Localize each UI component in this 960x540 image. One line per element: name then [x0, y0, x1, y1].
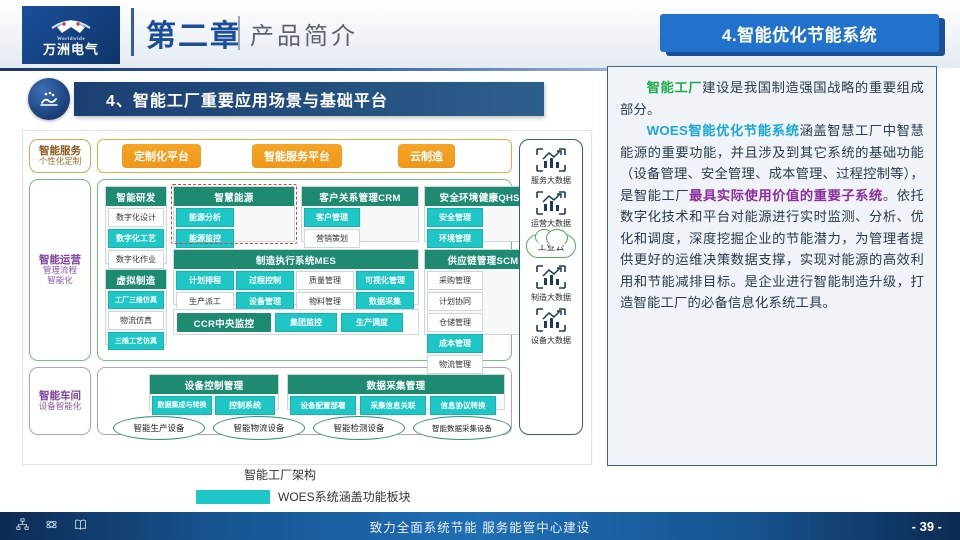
- chip[interactable]: 质量管理: [296, 271, 354, 290]
- module-crm: 客户关系管理CRM 客户管理 营销策划 销售管理 销售预测: [301, 186, 419, 242]
- footer-slogan: 致力全面系统节能 服务能管中心建设: [0, 517, 960, 536]
- bigdata-label: 服务大数据: [531, 175, 571, 186]
- ccr-title: CCR中央监控: [177, 313, 271, 332]
- chip[interactable]: 物流仿真: [108, 311, 164, 330]
- platform-button-service[interactable]: 智能服务平台: [252, 144, 342, 168]
- module-title: 智能研发: [106, 187, 166, 206]
- cloud-icon: 工业云: [526, 234, 576, 258]
- description-panel: 智能工厂建设是我国制造强国战略的重要组成部分。 WOES智能优化节能系统涵盖智慧…: [607, 66, 937, 466]
- topic-badge: 4.智能优化节能系统: [660, 14, 945, 56]
- section-title-bar: 4、智能工厂重要应用场景与基础平台: [74, 82, 544, 116]
- highlight-value: 最具实际使用价值的重要子系统: [689, 188, 883, 203]
- bigdata-column: 服务大数据 运营大数据 工业云 制造大数据: [519, 139, 583, 435]
- rail-sub: 个性化定制: [39, 157, 82, 167]
- chart-icon: [533, 305, 569, 335]
- legend-title: 智能工厂架构: [244, 466, 316, 483]
- company-logo-icon: [48, 14, 94, 36]
- chip[interactable]: 数据集成与转换: [152, 396, 212, 415]
- chart-icon: [533, 145, 569, 175]
- bigdata-service: 服务大数据: [531, 145, 571, 186]
- platform-button-custom[interactable]: 定制化平台: [122, 144, 201, 168]
- chip[interactable]: 数字化工艺: [108, 229, 164, 248]
- module-title: 虚拟制造: [106, 270, 166, 289]
- module-title: 智慧能源: [174, 187, 294, 206]
- chip[interactable]: 设备配置部署: [290, 396, 356, 415]
- chip[interactable]: 能源分析: [176, 208, 234, 227]
- module-data-collection: 数据采集管理 设备配置部署 采集信息关联 信息协议转换: [287, 374, 505, 410]
- p2-part2: 。依托数字化技术和平台对能源进行实时监测、分析、优化和调度，深度挖掘企业的节能潜…: [620, 188, 924, 311]
- chip[interactable]: 集团监控: [275, 313, 337, 332]
- equipment-production[interactable]: 智能生产设备: [113, 416, 205, 440]
- chip[interactable]: 数字化作业: [108, 250, 164, 269]
- rail-smart-operation: 智能运营 管理流程 智能化: [29, 179, 91, 361]
- section-title-text: 4、智能工厂重要应用场景与基础平台: [106, 87, 388, 111]
- header-divider: [131, 8, 134, 56]
- module-virtual-manufacturing: 虚拟制造 工厂三维仿真 物流仿真 三维工艺仿真: [105, 269, 167, 345]
- rail-smart-workshop: 智能车间 设备智能化: [29, 367, 91, 435]
- chapter-separator: [238, 16, 240, 50]
- rail-sub: 管理流程 智能化: [43, 266, 77, 286]
- smart-factory-architecture-diagram: 智能服务 个性化定制 智能运营 管理流程 智能化 智能车间 设备智能化 定制化平…: [22, 130, 592, 465]
- page-number: - 39 -: [912, 519, 942, 534]
- company-logo: Worldwide 万洲电气: [22, 6, 120, 64]
- bigdata-label: 制造大数据: [531, 292, 571, 303]
- chip[interactable]: 营销策划: [304, 229, 360, 248]
- equipment-data-acquisition[interactable]: 智能数据采集设备: [413, 416, 511, 440]
- legend-swatch: [196, 490, 270, 504]
- platform-strip: 定制化平台 智能服务平台 云制造: [97, 139, 512, 173]
- module-title: 客户关系管理CRM: [302, 187, 418, 206]
- module-ccr: CCR中央监控 集团监控 生产调度: [173, 309, 419, 335]
- legend-text: WOES系统涵盖功能板块: [278, 488, 411, 505]
- paragraph-1: 智能工厂建设是我国制造强国战略的重要组成部分。: [620, 77, 924, 120]
- chip[interactable]: 生产调度: [341, 313, 403, 332]
- module-device-control: 设备控制管理 数据集成与转换 控制系统: [149, 374, 279, 410]
- highlight-smart-factory: 智能工厂: [647, 80, 703, 95]
- chapter-subtitle: 产品简介: [250, 16, 358, 51]
- chip[interactable]: 计划排程: [176, 271, 234, 290]
- chip[interactable]: 可视化管理: [356, 271, 414, 290]
- chip[interactable]: 采集信息关联: [360, 396, 426, 415]
- logo-name: 万洲电气: [43, 43, 99, 56]
- chip[interactable]: 仓储管理: [427, 313, 483, 332]
- equipment-logistics[interactable]: 智能物流设备: [213, 416, 305, 440]
- platform-button-cloud[interactable]: 云制造: [398, 144, 455, 168]
- equipment-inspection[interactable]: 智能检测设备: [313, 416, 405, 440]
- chart-icon: [533, 188, 569, 218]
- module-title: 设备控制管理: [150, 375, 278, 394]
- badge-label: 4.智能优化节能系统: [660, 14, 939, 52]
- chip[interactable]: 环境管理: [427, 229, 483, 248]
- chip[interactable]: 能源监控: [176, 229, 234, 248]
- paragraph-2: WOES智能优化节能系统涵盖智慧工厂中智慧能源的重要功能，并且涉及到其它系统的基…: [620, 120, 924, 314]
- bigdata-label: 设备大数据: [531, 335, 571, 346]
- module-title: 制造执行系统MES: [174, 250, 418, 269]
- chip[interactable]: 计划协同: [427, 292, 483, 311]
- bigdata-manufacturing: 制造大数据: [531, 262, 571, 303]
- chip[interactable]: 客户管理: [304, 208, 360, 227]
- chip[interactable]: 控制系统: [215, 396, 275, 415]
- chip[interactable]: 安全管理: [427, 208, 483, 227]
- module-smart-energy: 智慧能源 能源分析 能源监控 能源调度 能源优化: [173, 186, 295, 242]
- chip[interactable]: 三维工艺仿真: [108, 332, 164, 350]
- chip[interactable]: 过程控制: [236, 271, 294, 290]
- factory-hand-icon: [28, 78, 70, 120]
- chip[interactable]: 采购管理: [427, 271, 483, 290]
- module-rnd: 智能研发 数字化设计 数字化工艺 数字化作业: [105, 186, 167, 264]
- rail-smart-service: 智能服务 个性化定制: [29, 139, 91, 173]
- module-mes: 制造执行系统MES 计划排程 过程控制 质量管理 可视化管理 生产派工 设备管理…: [173, 249, 419, 305]
- module-title: 数据采集管理: [288, 375, 504, 394]
- chapter-title: 第二章: [146, 11, 242, 55]
- slide-footer: 致力全面系统节能 服务能管中心建设 - 39 -: [0, 512, 960, 540]
- rail-sub: 设备智能化: [39, 402, 82, 412]
- chip[interactable]: 物流管理: [427, 355, 483, 374]
- bigdata-equipment: 设备大数据: [531, 305, 571, 346]
- chip[interactable]: 信息协议转换: [430, 396, 496, 415]
- chip[interactable]: 成本管理: [427, 334, 483, 353]
- chart-icon: [533, 262, 569, 292]
- chip[interactable]: 数字化设计: [108, 208, 164, 227]
- highlight-woes: WOES智能优化节能系统: [647, 123, 800, 138]
- bigdata-label: 运营大数据: [531, 218, 571, 229]
- chip[interactable]: 工厂三维仿真: [108, 291, 164, 309]
- bigdata-operation: 运营大数据: [531, 188, 571, 229]
